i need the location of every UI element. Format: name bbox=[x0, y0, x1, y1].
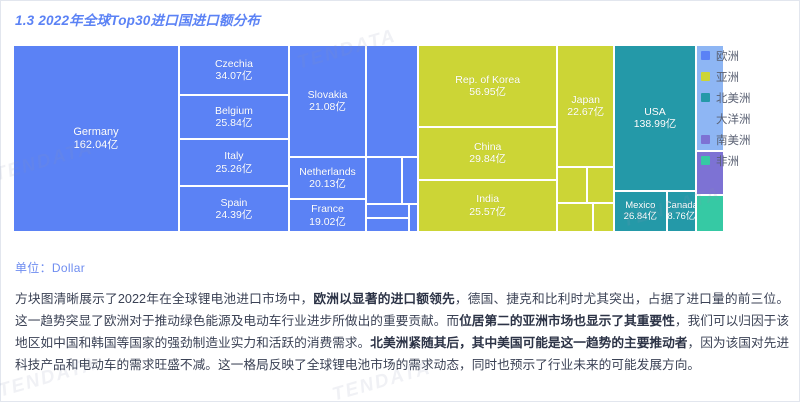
treemap-cell-value: 29.84亿 bbox=[469, 153, 506, 165]
treemap-cell[interactable] bbox=[593, 203, 614, 232]
unit-label: 单位：Dollar bbox=[15, 259, 85, 276]
treemap-cell-germany[interactable]: Germany162.04亿 bbox=[13, 45, 179, 232]
paragraph-text: 方块图清晰展示了2022年在全球锂电池进口市场中， bbox=[15, 292, 313, 306]
treemap-cell-name: Netherlands bbox=[299, 166, 356, 178]
treemap-cell-czechia[interactable]: Czechia34.07亿 bbox=[179, 45, 289, 95]
legend-item-label: 亚洲 bbox=[716, 69, 739, 85]
legend-item-label: 欧洲 bbox=[716, 48, 739, 64]
treemap-cell-name: USA bbox=[634, 106, 677, 118]
legend-swatch-icon bbox=[701, 51, 710, 60]
treemap-cell-name: China bbox=[469, 141, 506, 153]
treemap-cell-mexico[interactable]: Mexico26.84亿 bbox=[614, 191, 667, 232]
legend-item-europe[interactable]: 欧洲 bbox=[701, 45, 789, 66]
treemap-cell[interactable] bbox=[366, 157, 402, 204]
treemap-cell-name: Rep. of Korea bbox=[455, 74, 520, 86]
legend-item-label: 南美洲 bbox=[716, 132, 751, 148]
chart-legend: 欧洲亚洲北美洲大洋洲南美洲非洲 bbox=[701, 45, 789, 171]
legend-item-africa[interactable]: 非洲 bbox=[701, 150, 789, 171]
treemap-cell-name: Mexico bbox=[624, 200, 657, 211]
treemap-cell-name: Czechia bbox=[215, 58, 253, 70]
treemap-cell-name: France bbox=[309, 203, 346, 215]
paragraph-emphasis: 欧洲以显著的进口额领先 bbox=[313, 292, 454, 306]
treemap-cell[interactable] bbox=[696, 195, 724, 232]
treemap-cell[interactable] bbox=[366, 204, 409, 218]
treemap-cell-canada[interactable]: Canada8.76亿 bbox=[667, 191, 696, 232]
treemap-cell[interactable] bbox=[587, 167, 614, 203]
report-card: 1.3 2022年全球Top30进口国进口额分布 Germany162.04亿C… bbox=[0, 0, 800, 402]
legend-swatch-icon bbox=[701, 135, 710, 144]
treemap-cell-slovakia[interactable]: Slovakia21.08亿 bbox=[289, 45, 366, 157]
treemap-cell-value: 22.67亿 bbox=[567, 106, 604, 118]
treemap-cell-name: Japan bbox=[567, 94, 604, 106]
treemap-cell-value: 21.08亿 bbox=[308, 101, 348, 113]
paragraph-emphasis: 北美洲紧随其后，其中美国可能是这一趋势的主要推动者 bbox=[370, 336, 687, 350]
treemap-plot-area: Germany162.04亿Czechia34.07亿Belgium25.84亿… bbox=[13, 45, 696, 232]
treemap-cell-value: 34.07亿 bbox=[215, 70, 253, 82]
legend-item-label: 北美洲 bbox=[716, 90, 751, 106]
treemap-cell-value: 8.76亿 bbox=[667, 211, 696, 222]
treemap-cell-name: Germany bbox=[73, 126, 118, 139]
legend-item-oceania[interactable]: 大洋洲 bbox=[701, 108, 789, 129]
treemap-cell-netherlands[interactable]: Netherlands20.13亿 bbox=[289, 157, 366, 199]
treemap-cell-name: India bbox=[469, 193, 506, 205]
treemap-cell-value: 24.39亿 bbox=[216, 209, 253, 221]
treemap-cell[interactable] bbox=[366, 45, 418, 157]
treemap-cell-value: 138.99亿 bbox=[634, 118, 677, 130]
treemap-cell-france[interactable]: France19.02亿 bbox=[289, 199, 366, 232]
treemap-cell-value: 56.95亿 bbox=[455, 86, 520, 98]
treemap-cell-india[interactable]: India25.57亿 bbox=[418, 180, 557, 232]
treemap-cell-china[interactable]: China29.84亿 bbox=[418, 127, 557, 179]
legend-swatch-icon bbox=[701, 156, 710, 165]
treemap-cell-name: Spain bbox=[216, 197, 253, 209]
treemap-cell-name: Italy bbox=[216, 150, 253, 162]
treemap-cell-value: 19.02亿 bbox=[309, 216, 346, 228]
legend-swatch-icon bbox=[701, 72, 710, 81]
treemap-cell-name: Slovakia bbox=[308, 89, 348, 101]
treemap-cell[interactable] bbox=[366, 218, 409, 232]
treemap-cell-value: 20.13亿 bbox=[299, 178, 356, 190]
legend-item-label: 大洋洲 bbox=[716, 111, 751, 127]
treemap-cell-name: Canada bbox=[667, 200, 696, 211]
treemap-cell-value: 25.26亿 bbox=[216, 163, 253, 175]
treemap-cell-value: 25.84亿 bbox=[215, 117, 253, 129]
treemap-cell-usa[interactable]: USA138.99亿 bbox=[614, 45, 696, 191]
treemap-cell[interactable] bbox=[409, 204, 418, 232]
analysis-paragraph: 方块图清晰展示了2022年在全球锂电池进口市场中，欧洲以显著的进口额领先，德国、… bbox=[15, 289, 789, 376]
legend-swatch-icon bbox=[701, 93, 710, 102]
legend-item-south-america[interactable]: 南美洲 bbox=[701, 129, 789, 150]
treemap-cell[interactable] bbox=[557, 203, 593, 232]
paragraph-emphasis: 位居第二的亚洲市场也显示了其重要性 bbox=[459, 314, 675, 328]
treemap-cell-belgium[interactable]: Belgium25.84亿 bbox=[179, 95, 289, 139]
treemap-cell-value: 162.04亿 bbox=[73, 139, 118, 152]
treemap-chart: Germany162.04亿Czechia34.07亿Belgium25.84亿… bbox=[13, 45, 789, 232]
legend-item-asia[interactable]: 亚洲 bbox=[701, 66, 789, 87]
treemap-cell-spain[interactable]: Spain24.39亿 bbox=[179, 186, 289, 232]
treemap-cell[interactable] bbox=[557, 167, 587, 203]
treemap-cell-japan[interactable]: Japan22.67亿 bbox=[557, 45, 614, 167]
legend-item-north-america[interactable]: 北美洲 bbox=[701, 87, 789, 108]
legend-swatch-icon bbox=[701, 114, 710, 123]
legend-item-label: 非洲 bbox=[716, 153, 739, 169]
treemap-cell-italy[interactable]: Italy25.26亿 bbox=[179, 139, 289, 186]
treemap-cell[interactable] bbox=[402, 157, 418, 204]
page-title: 1.3 2022年全球Top30进口国进口额分布 bbox=[15, 9, 260, 29]
treemap-cell-value: 25.57亿 bbox=[469, 206, 506, 218]
treemap-cell-rep-of-korea[interactable]: Rep. of Korea56.95亿 bbox=[418, 45, 557, 127]
treemap-cell-value: 26.84亿 bbox=[624, 211, 657, 222]
treemap-cell-name: Belgium bbox=[215, 105, 253, 117]
